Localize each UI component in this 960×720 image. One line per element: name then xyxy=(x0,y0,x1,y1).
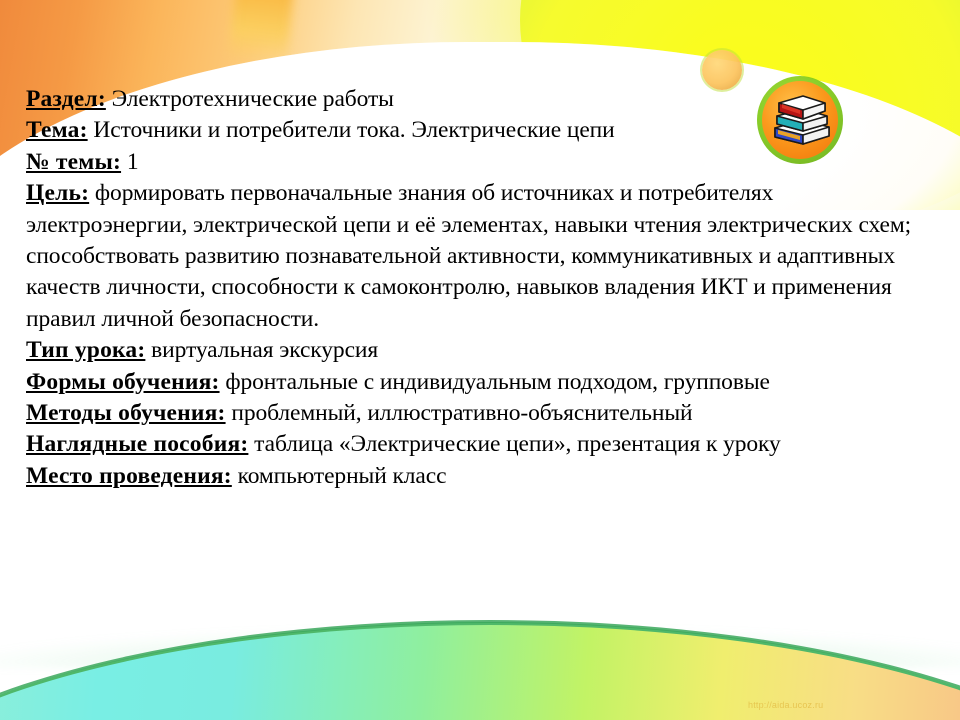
label-tema: Тема: xyxy=(26,117,88,143)
label-metody-obucheniya: Методы обучения: xyxy=(26,400,226,426)
text-line-nomer-temy: № темы: 1 xyxy=(26,147,934,178)
top-orange-streak-icon xyxy=(228,0,294,65)
label-cel: Цель: xyxy=(26,180,89,206)
value-cel: формировать первоначальные знания об ист… xyxy=(26,180,911,332)
text-line-naglyadnye-posobiya: Наглядные пособия: таблица «Электрически… xyxy=(26,429,934,460)
value-nomer-temy: 1 xyxy=(121,149,138,175)
label-naglyadnye-posobiya: Наглядные пособия: xyxy=(26,431,248,457)
slide-body-text: Раздел: Электротехнические работы Тема: … xyxy=(26,84,934,492)
value-naglyadnye-posobiya: таблица «Электрические цепи», презентаци… xyxy=(248,431,780,457)
value-metody-obucheniya: проблемный, иллюстративно-объяснительный xyxy=(226,400,693,426)
value-tema: Источники и потребители тока. Электричес… xyxy=(88,117,615,143)
value-razdel: Электротехнические работы xyxy=(106,86,394,112)
label-mesto-provedeniya: Место проведения: xyxy=(26,463,232,489)
value-tip-uroka: виртуальная экскурсия xyxy=(145,337,378,363)
label-nomer-temy: № темы: xyxy=(26,149,121,175)
label-formy-obucheniya: Формы обучения: xyxy=(26,369,220,395)
value-formy-obucheniya: фронтальные с индивидуальным подходом, г… xyxy=(220,369,770,395)
arc-glow-icon xyxy=(0,608,960,668)
text-line-razdel: Раздел: Электротехнические работы xyxy=(26,84,934,115)
value-mesto-provedeniya: компьютерный класс xyxy=(232,463,447,489)
text-line-metody-obucheniya: Методы обучения: проблемный, иллюстратив… xyxy=(26,398,934,429)
text-line-cel: Цель: формировать первоначальные знания … xyxy=(26,178,934,335)
label-razdel: Раздел: xyxy=(26,86,106,112)
text-line-mesto-provedeniya: Место проведения: компьютерный класс xyxy=(26,461,934,492)
slide-canvas: Раздел: Электротехнические работы Тема: … xyxy=(0,0,960,720)
label-tip-uroka: Тип урока: xyxy=(26,337,145,363)
text-line-formy-obucheniya: Формы обучения: фронтальные с индивидуал… xyxy=(26,367,934,398)
text-line-tip-uroka: Тип урока: виртуальная экскурсия xyxy=(26,335,934,366)
text-line-tema: Тема: Источники и потребители тока. Элек… xyxy=(26,115,934,146)
watermark-text: http://aida.ucoz.ru xyxy=(748,700,823,710)
